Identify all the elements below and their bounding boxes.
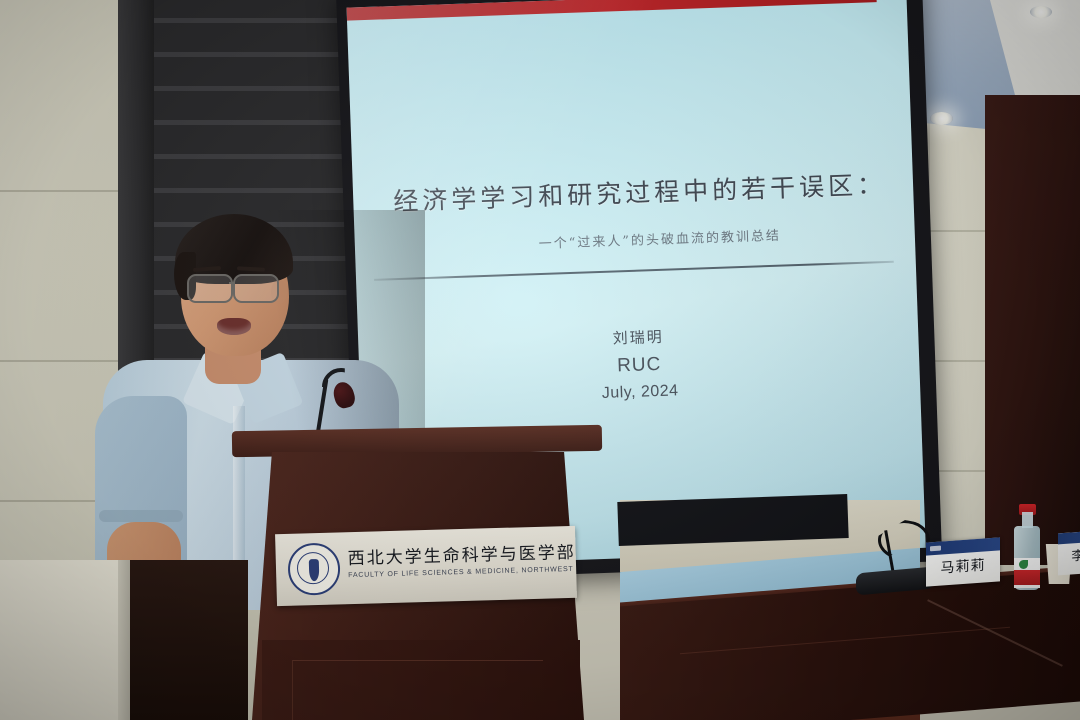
bottle-leaf-icon <box>1019 560 1028 569</box>
nameplate-primary-text: 马莉莉 <box>926 553 1000 578</box>
podium-panel-groove <box>292 660 543 720</box>
nameplate-secondary: 李 <box>1058 531 1080 576</box>
right-wood-panel <box>985 95 1080 565</box>
left-wall-edge <box>118 560 130 720</box>
podium-plaque: 西北大学生命科学与医学部 FACULTY OF LIFE SCIENCES & … <box>275 526 577 606</box>
left-lower-wall <box>0 560 130 720</box>
downlight-4-icon <box>1030 6 1052 18</box>
bottle-label-band <box>1014 570 1040 585</box>
nameplate-primary: 马莉莉 <box>926 537 1000 586</box>
downlight-3-icon <box>930 112 953 125</box>
slide-accent-bar <box>347 0 877 21</box>
nameplate-secondary-band <box>1058 531 1080 545</box>
seal-emblem-mark <box>309 559 320 581</box>
podium-plaque-chinese: 西北大学生命科学与医学部 <box>347 538 570 569</box>
slide-divider-rule <box>374 261 894 281</box>
panel-table: 马莉莉 李 <box>620 536 1080 720</box>
glasses-lens-left <box>187 274 233 303</box>
university-seal-icon <box>287 542 340 595</box>
nameplate-header-band <box>926 537 1000 555</box>
slide-author-block: 刘瑞明 RUC July, 2024 <box>398 319 880 412</box>
nameplate-secondary-text: 李 <box>1058 544 1080 566</box>
slide-subtitle: 一个“过来人”的头破血流的教训总结 <box>425 221 895 256</box>
glasses-bridge <box>229 282 235 284</box>
left-floor-shadow <box>128 560 248 720</box>
lecture-photo-scene: 经济学学习和研究过程中的若干误区： 一个“过来人”的头破血流的教训总结 刘瑞明 … <box>0 0 1080 720</box>
speaker-mouth <box>217 318 251 335</box>
glasses-lens-right <box>233 274 279 303</box>
slide-title: 经济学学习和研究过程中的若干误区： <box>393 165 874 218</box>
speaker-sleeve-cuff <box>99 510 183 522</box>
